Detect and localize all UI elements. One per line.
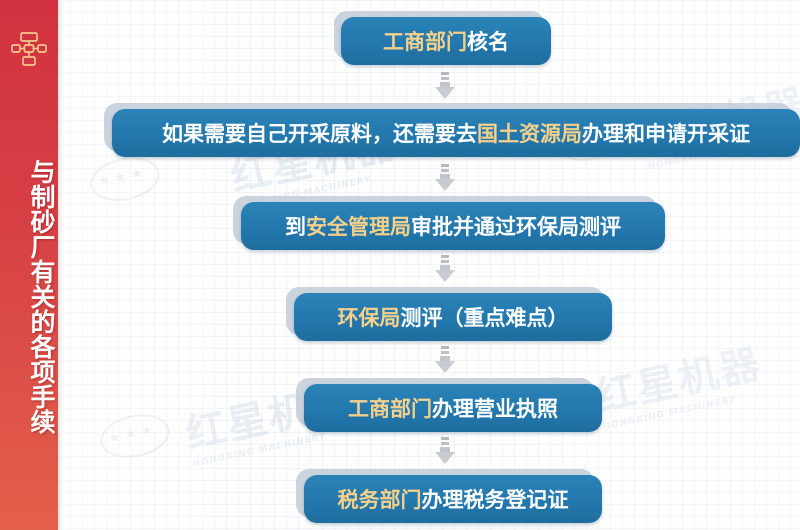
step-3-highlight: 安全管理局 <box>306 211 411 241</box>
arrow-3-4 <box>434 255 456 283</box>
step-3-prefix: 到 <box>285 211 306 241</box>
flow-step-1[interactable]: 工商部门核名 <box>341 17 551 65</box>
step-6-highlight: 税务部门 <box>338 484 422 514</box>
step-2-highlight: 国土资源局 <box>477 118 582 148</box>
flow-step-6[interactable]: 税务部门办理税务登记证 <box>304 475 602 523</box>
step-5-highlight: 工商部门 <box>348 393 432 423</box>
arrow-5-6 <box>434 437 456 465</box>
step-1-highlight: 工商部门 <box>383 26 467 56</box>
step-4-rest: 测评（重点难点） <box>401 302 569 332</box>
step-2-prefix: 如果需要自己开采原料，还需要去 <box>162 118 477 148</box>
arrow-1-2 <box>434 72 456 100</box>
flow-step-3[interactable]: 到安全管理局审批并通过环保局测评 <box>241 202 665 250</box>
sidebar-title: 与制砂厂有关的各项手续 <box>0 96 58 496</box>
flow-step-4[interactable]: 环保局测评（重点难点） <box>294 293 612 341</box>
sidebar-title-text: 与制砂厂有关的各项手续 <box>25 159 58 434</box>
flowchart-infographic: 红星机器 HONGXING MACHINERY 红星机器 HONGXING MA… <box>0 0 800 530</box>
step-2-rest: 办理和申请开采证 <box>582 118 750 148</box>
arrow-2-3 <box>434 164 456 192</box>
arrow-4-5 <box>434 346 456 374</box>
step-6-rest: 办理税务登记证 <box>422 484 569 514</box>
flow-step-5[interactable]: 工商部门办理营业执照 <box>304 384 602 432</box>
step-4-highlight: 环保局 <box>338 302 401 332</box>
org-chart-icon <box>11 32 47 66</box>
background-grid <box>58 0 800 530</box>
step-1-rest: 核名 <box>467 26 509 56</box>
step-3-rest: 审批并通过环保局测评 <box>411 211 621 241</box>
step-5-rest: 办理营业执照 <box>432 393 558 423</box>
flow-step-2[interactable]: 如果需要自己开采原料，还需要去国土资源局办理和申请开采证 <box>112 109 800 157</box>
sidebar-banner: 与制砂厂有关的各项手续 <box>0 0 58 530</box>
